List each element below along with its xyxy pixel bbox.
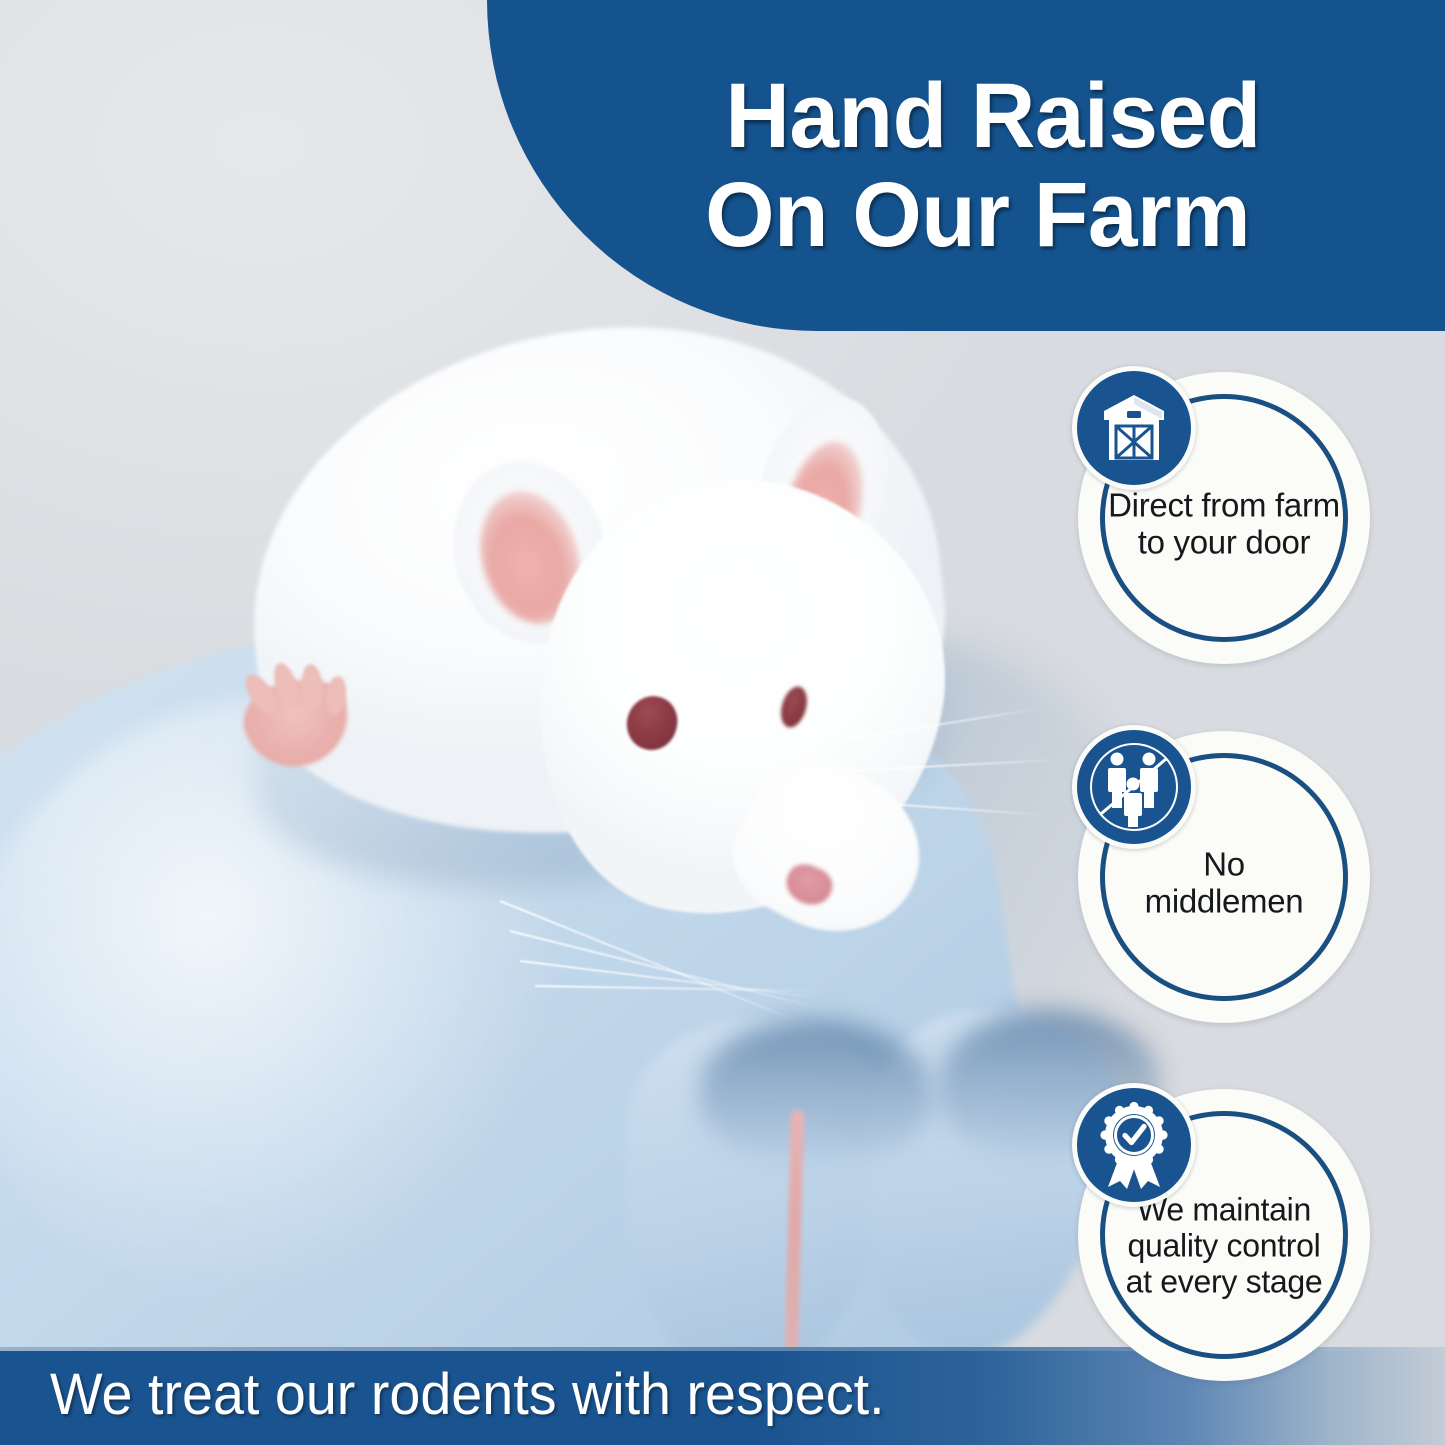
footer-tagline: We treat our rodents with respect. bbox=[50, 1361, 885, 1428]
finger-shadow-left bbox=[700, 1020, 930, 1160]
badge-label: No middlemen bbox=[1108, 846, 1340, 921]
header-title-line-1: Hand Raised bbox=[671, 69, 1261, 164]
badge-label: We maintain quality control at every sta… bbox=[1108, 1192, 1340, 1300]
marketing-image: Hand Raised On Our Farm Direct from farm… bbox=[0, 0, 1445, 1445]
feature-badge-no-middlemen[interactable]: No middlemen bbox=[1078, 731, 1370, 1023]
feature-badge-quality-control[interactable]: We maintain quality control at every sta… bbox=[1078, 1089, 1370, 1381]
feature-badge-direct-from-farm[interactable]: Direct from farm to your door bbox=[1078, 372, 1370, 664]
no-middlemen-icon bbox=[1072, 725, 1196, 849]
award-ribbon-icon bbox=[1072, 1083, 1196, 1207]
badge-label: Direct from farm to your door bbox=[1108, 487, 1340, 562]
header-title-line-2: On Our Farm bbox=[682, 168, 1250, 263]
header-title: Hand Raised On Our Farm bbox=[487, 0, 1445, 331]
barn-icon bbox=[1072, 366, 1196, 490]
header-banner: Hand Raised On Our Farm bbox=[487, 0, 1445, 331]
